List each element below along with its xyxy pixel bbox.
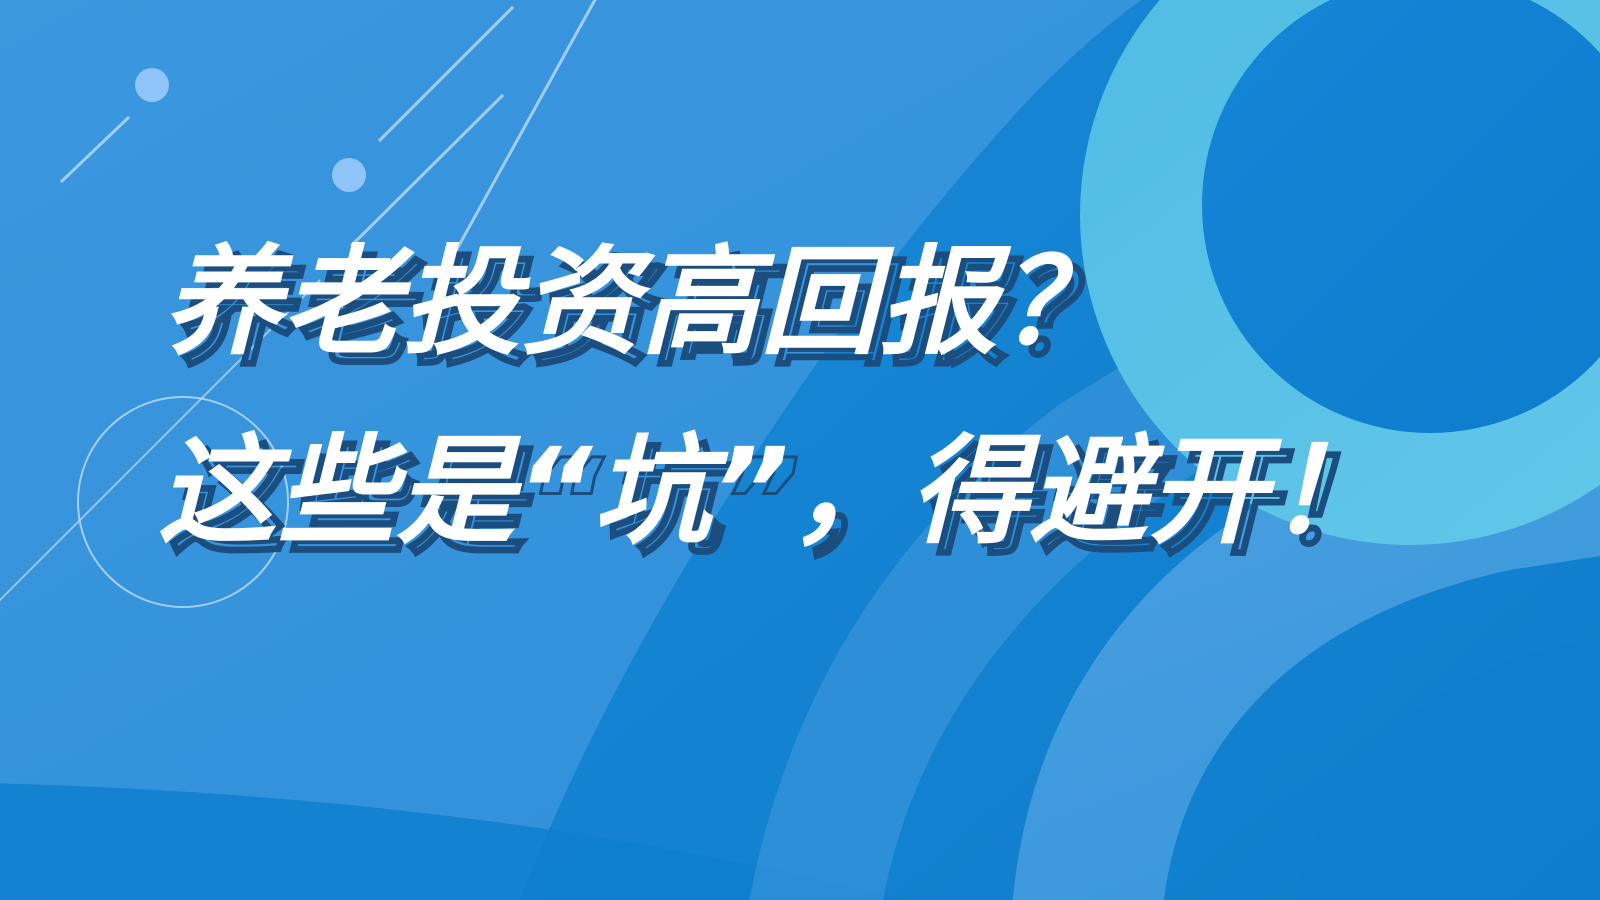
dot-small-mid-left: [332, 158, 366, 192]
background-artwork: [0, 0, 1600, 900]
dot-small-upper-left: [135, 68, 169, 102]
poster-canvas: 养老投资高回报？ 养老投资高回报？ 这些是“坑”，得避开！ 这些是“坑”，得避开…: [0, 0, 1600, 900]
